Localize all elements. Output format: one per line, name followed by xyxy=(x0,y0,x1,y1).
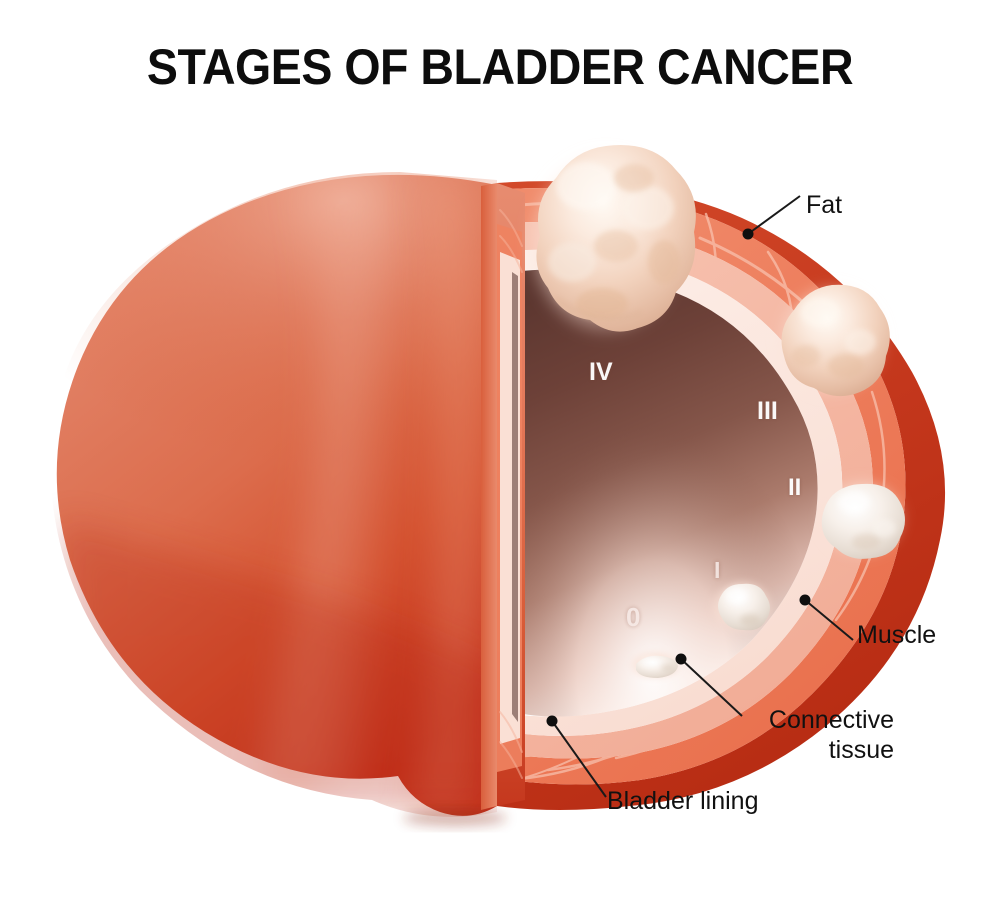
cut-face-edge xyxy=(481,183,525,810)
tumor-stage-i xyxy=(710,578,774,634)
leader-fat xyxy=(748,196,800,234)
tumor-stage-0 xyxy=(627,649,683,681)
tumor-stage-iii xyxy=(776,282,890,398)
dot-muscle xyxy=(800,595,811,606)
dot-bladder-lining xyxy=(547,716,558,727)
callout-label-connective-tissue: Connective tissue xyxy=(744,705,894,765)
callout-label-bladder-lining: Bladder lining xyxy=(607,786,759,816)
illustration-canvas: STAGES OF BLADDER CANCER xyxy=(0,0,1000,897)
callout-label-fat: Fat xyxy=(806,190,842,220)
dot-fat xyxy=(743,229,754,240)
callout-label-muscle: Muscle xyxy=(857,620,936,650)
dot-connective-tissue xyxy=(676,654,687,665)
